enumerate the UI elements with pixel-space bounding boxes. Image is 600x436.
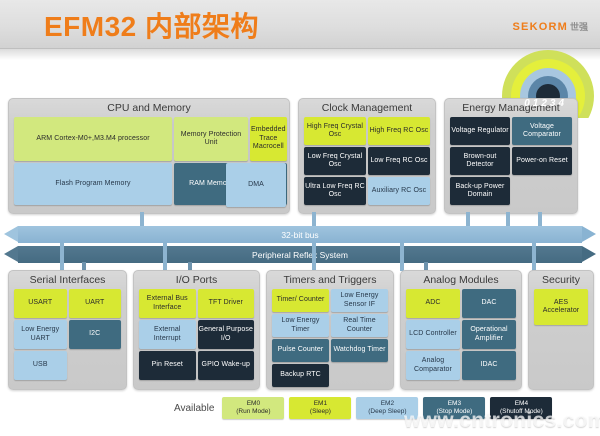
legend-item-desc: (Run Mode) [236, 408, 270, 416]
block-low-freq-crystal-osc[interactable]: Low Freq Crystal Osc [304, 147, 366, 175]
legend: Available EM0 (Run Mode) EM1 (Sleep) EM2… [174, 397, 552, 419]
ring-numbers: 0 1 2 3 4 [524, 98, 564, 109]
block-dma[interactable]: DMA [226, 163, 286, 207]
connector-bus-serial-1 [60, 243, 64, 271]
connector-bus-timers [312, 243, 316, 271]
legend-label: Available [174, 403, 214, 414]
connector-clock-bus [312, 212, 316, 227]
block-flash-program-memory[interactable]: Flash Program Memory [14, 163, 172, 205]
ring-number-4: 4 [558, 98, 564, 109]
panel-title: Analog Modules [401, 274, 521, 286]
bus-arrow-right [582, 246, 596, 262]
sekorm-logo: SEKORM 世强 [513, 20, 589, 33]
panel-security: Security AES Accelerator [528, 270, 594, 390]
legend-item-em2[interactable]: EM2 (Deep Sleep) [356, 397, 418, 419]
connector-energy-bus-1 [466, 212, 470, 227]
block-usb[interactable]: USB [14, 351, 67, 380]
block-watchdog-timer[interactable]: Watchdog Timer [331, 339, 388, 362]
panel-analog-modules: Analog Modules ADC DAC LCD Controller Op… [400, 270, 522, 390]
block-external-interrupt[interactable]: External Interrupt [139, 320, 196, 349]
block-voltage-comparator[interactable]: Voltage Comparator [512, 117, 572, 145]
ring-number-2: 2 [541, 98, 547, 109]
block-dac[interactable]: DAC [462, 289, 516, 318]
legend-item-name: EM1 [314, 400, 327, 408]
bus-peripheral-reflex-system: Peripheral Reflex System [4, 246, 596, 263]
connector-bus-security [532, 243, 536, 271]
legend-item-em4[interactable]: EM4 (Shutoff Mode) [490, 397, 552, 419]
legend-item-desc: (Deep Sleep) [368, 408, 406, 416]
panel-cpu-and-memory: CPU and Memory ARM Cortex-M0+,M3.M4 proc… [8, 98, 290, 214]
panel-title: I/O Ports [134, 274, 259, 286]
connector-bus-analog [400, 243, 404, 271]
block-idac[interactable]: IDAC [462, 351, 516, 380]
panel-title: Timers and Triggers [267, 274, 393, 286]
block-low-freq-rc-osc[interactable]: Low Freq RC Osc [368, 147, 430, 175]
block-general-purpose-io[interactable]: General Purpose I/O [198, 320, 255, 349]
legend-item-desc: (Shutoff Mode) [500, 408, 543, 416]
legend-item-desc: (Stop Mode) [437, 408, 473, 416]
page-title: EFM32 内部架构 [44, 5, 259, 45]
block-lcd-controller[interactable]: LCD Controller [406, 320, 460, 349]
block-memory-protection-unit[interactable]: Memory Protection Unit [174, 117, 248, 161]
block-low-energy-timer[interactable]: Low Energy Timer [272, 314, 329, 337]
block-usart[interactable]: USART [14, 289, 67, 318]
ring-number-0: 0 [524, 98, 530, 109]
panel-title: Clock Management [299, 102, 435, 114]
bus-arrow-left [4, 226, 18, 242]
bus-label: Peripheral Reflex System [18, 246, 582, 263]
block-gpio-wake-up[interactable]: GPIO Wake-up [198, 351, 255, 380]
block-analog-comparator[interactable]: Analog Comparator [406, 351, 460, 380]
block-auxiliary-rc-osc[interactable]: Auxiliary RC Osc [368, 177, 430, 205]
block-brown-out-detector[interactable]: Brown-out Detector [450, 147, 510, 175]
block-embedded-trace-macrocell[interactable]: Embedded Trace Macrocell [250, 117, 287, 161]
panel-energy-management: Energy Management Voltage Regulator Volt… [444, 98, 578, 214]
logo-text-cn: 世强 [570, 20, 588, 33]
block-backup-rtc[interactable]: Backup RTC [272, 364, 329, 387]
block-timer-counter[interactable]: Timer/ Counter [272, 289, 329, 312]
connector-cpu-bus [140, 212, 144, 227]
legend-item-name: EM3 [448, 400, 461, 408]
bus-arrow-left [4, 246, 18, 262]
panel-title: Security [529, 274, 593, 286]
logo-text: SEKORM [513, 21, 568, 33]
block-back-up-power-domain[interactable]: Back-up Power Domain [450, 177, 510, 205]
block-external-bus-interface[interactable]: External Bus Interface [139, 289, 196, 318]
block-arm-cortex-processor[interactable]: ARM Cortex-M0+,M3.M4 processor [14, 117, 172, 161]
connector-energy-bus-2 [506, 212, 510, 227]
panel-serial-interfaces: Serial Interfaces USART UART Low Energy … [8, 270, 127, 390]
bus-32-bit: 32-bit bus [4, 226, 596, 243]
block-real-time-counter[interactable]: Real Time Counter [331, 314, 388, 337]
block-power-on-reset[interactable]: Power-on Reset [512, 147, 572, 175]
bus-arrow-right [582, 226, 596, 242]
block-adc[interactable]: ADC [406, 289, 460, 318]
block-operational-amplifier[interactable]: Operational Amplifier [462, 320, 516, 349]
legend-item-name: EM2 [381, 400, 394, 408]
panel-timers-and-triggers: Timers and Triggers Timer/ Counter Low E… [266, 270, 394, 390]
ring-number-3: 3 [550, 98, 556, 109]
panel-title: CPU and Memory [9, 102, 289, 114]
ring-number-1: 1 [533, 98, 539, 109]
legend-item-em1[interactable]: EM1 (Sleep) [289, 397, 351, 419]
slide-header: EFM32 内部架构 SEKORM 世强 [0, 0, 600, 49]
block-ultra-low-freq-rc-osc[interactable]: Ultra Low Freq RC Osc [304, 177, 366, 205]
block-low-energy-sensor-if[interactable]: Low Energy Sensor IF [331, 289, 388, 312]
legend-item-em3[interactable]: EM3 (Stop Mode) [423, 397, 485, 419]
legend-item-desc: (Sleep) [310, 408, 331, 416]
legend-item-name: EM4 [515, 400, 528, 408]
slide-root: EFM32 内部架构 SEKORM 世强 0 1 2 3 4 CPU and M… [0, 0, 600, 436]
connector-energy-bus-3 [538, 212, 542, 227]
block-high-freq-rc-osc[interactable]: High Freq RC Osc [368, 117, 430, 145]
legend-item-name: EM0 [247, 400, 260, 408]
block-uart[interactable]: UART [69, 289, 122, 318]
block-pulse-counter[interactable]: Pulse Counter [272, 339, 329, 362]
panel-io-ports: I/O Ports External Bus Interface TFT Dri… [133, 270, 260, 390]
block-high-freq-crystal-osc[interactable]: High Freq Crystal Osc [304, 117, 366, 145]
legend-item-em0[interactable]: EM0 (Run Mode) [222, 397, 284, 419]
block-aes-accelerator[interactable]: AES Accelerator [534, 289, 588, 325]
block-low-energy-uart[interactable]: Low Energy UART [14, 320, 67, 349]
panel-title: Serial Interfaces [9, 274, 126, 286]
panel-clock-management: Clock Management High Freq Crystal Osc H… [298, 98, 436, 214]
block-voltage-regulator[interactable]: Voltage Regulator [450, 117, 510, 145]
block-i2c[interactable]: I2C [69, 320, 122, 349]
block-pin-reset[interactable]: Pin Reset [139, 351, 196, 380]
block-tft-driver[interactable]: TFT Driver [198, 289, 255, 318]
bus-label: 32-bit bus [18, 226, 582, 243]
connector-bus-io [163, 243, 167, 271]
